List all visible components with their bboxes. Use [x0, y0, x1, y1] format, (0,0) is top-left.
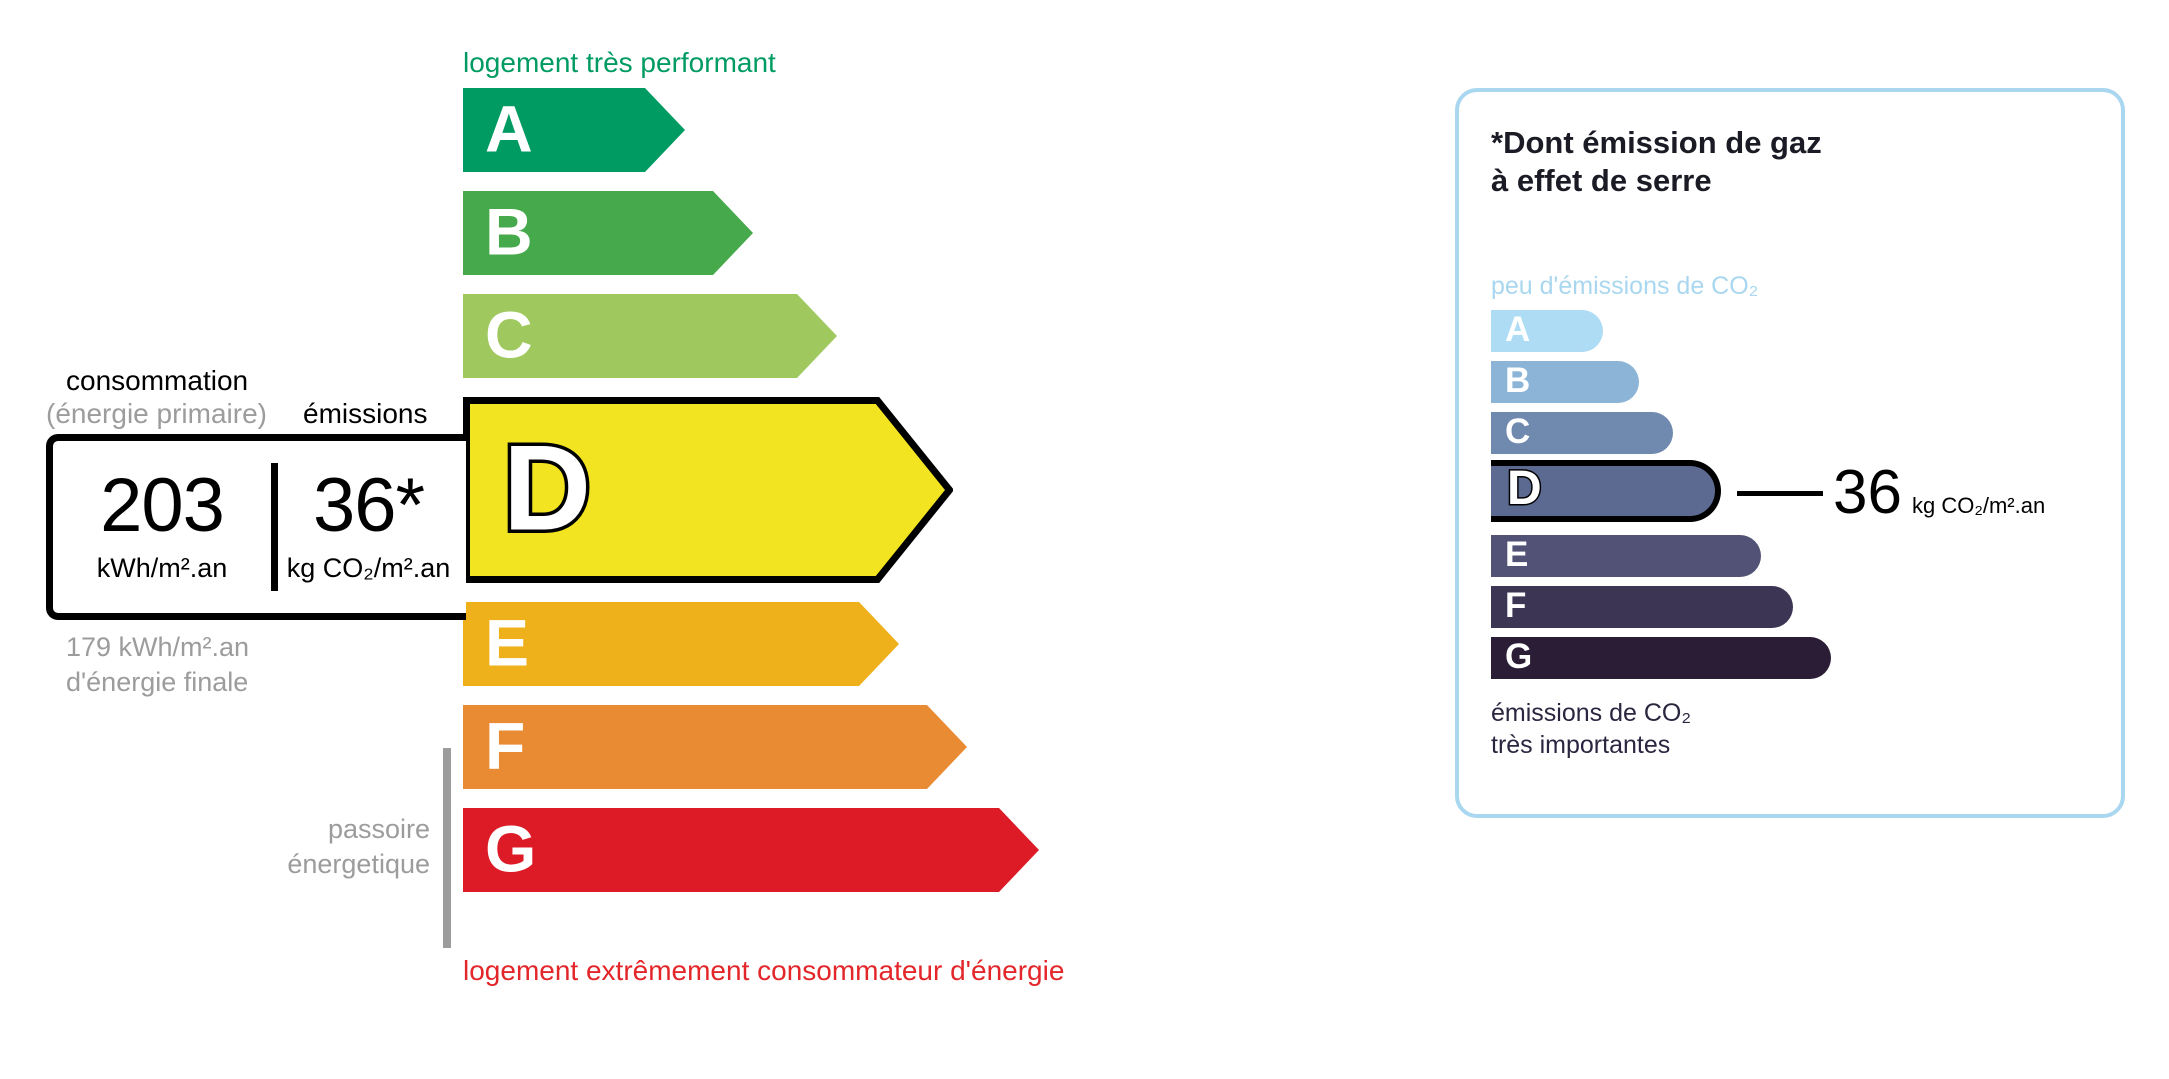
- energy-class-letter-f: F: [485, 713, 525, 779]
- co2-bar-g: G: [1491, 637, 1831, 679]
- co2-bar-f: F: [1491, 586, 1793, 628]
- energy-class-row-b: B: [463, 191, 753, 275]
- co2-class-letter-a: A: [1505, 312, 1530, 347]
- energy-arrow-d: D: [463, 397, 953, 583]
- energy-arrow-f: F: [463, 705, 967, 789]
- co2-class-row-c: C: [1491, 412, 1673, 454]
- co2-class-letter-d: D: [1507, 465, 1542, 513]
- energy-class-row-c: C: [463, 294, 837, 378]
- final-energy-line-1: 179 kWh/m².an: [66, 630, 249, 665]
- energy-class-row-e: E: [463, 602, 899, 686]
- energy-class-letter-d: D: [503, 427, 591, 549]
- energy-class-letter-b: B: [485, 199, 533, 265]
- consumption-value: 203: [100, 470, 224, 542]
- emission-value-cell: 36* kg CO₂/m².an: [271, 441, 466, 613]
- co2-value-callout: 36kg CO₂/m².an: [1833, 462, 2045, 524]
- co2-class-row-b: B: [1491, 361, 1639, 403]
- co2-class-letter-f: F: [1505, 588, 1526, 623]
- co2-bar-a: A: [1491, 310, 1603, 352]
- consumption-value-cell: 203 kWh/m².an: [53, 441, 271, 613]
- energy-class-letter-a: A: [485, 96, 533, 162]
- passoire-line-2: énergetique: [180, 847, 430, 882]
- emission-value: 36*: [313, 470, 424, 542]
- co2-top-caption: peu d'émissions de CO₂: [1491, 272, 1758, 301]
- energy-arrow-c: C: [463, 294, 837, 378]
- co2-class-letter-b: B: [1505, 363, 1530, 398]
- co2-class-row-e: E: [1491, 535, 1761, 577]
- energy-class-letter-e: E: [485, 610, 529, 676]
- co2-class-letter-e: E: [1505, 537, 1528, 572]
- energy-class-letter-c: C: [485, 302, 533, 368]
- energy-class-row-a: A: [463, 88, 685, 172]
- dpe-label: logement très performant ABCDEFG logemen…: [0, 0, 2169, 1079]
- co2-bar-e: E: [1491, 535, 1761, 577]
- co2-class-row-d: D: [1491, 460, 1721, 522]
- co2-panel-title: *Dont émission de gaz à effet de serre: [1491, 124, 1822, 200]
- emission-unit: kg CO₂/m².an: [287, 553, 451, 584]
- co2-bar-b: B: [1491, 361, 1639, 403]
- energy-class-row-d: D: [463, 397, 953, 583]
- energy-top-caption: logement très performant: [463, 47, 776, 79]
- energy-bottom-caption: logement extrêmement consommateur d'éner…: [463, 955, 1064, 987]
- co2-bar-d: D: [1491, 460, 1721, 522]
- energy-arrow-b: B: [463, 191, 753, 275]
- co2-class-row-a: A: [1491, 310, 1603, 352]
- co2-class-row-g: G: [1491, 637, 1831, 679]
- energy-arrow-e: E: [463, 602, 899, 686]
- energy-arrow-a: A: [463, 88, 685, 172]
- final-energy-line-2: d'énergie finale: [66, 665, 249, 700]
- co2-emissions-panel: *Dont émission de gaz à effet de serre p…: [1455, 88, 2125, 818]
- energy-performance-panel: logement très performant ABCDEFG logemen…: [0, 0, 1400, 1079]
- energy-class-letter-g: G: [485, 816, 536, 882]
- co2-bottom-caption: émissions de CO₂ très importantes: [1491, 698, 1691, 761]
- emissions-label: émissions: [303, 398, 427, 430]
- co2-class-letter-g: G: [1505, 639, 1532, 674]
- passoire-line-1: passoire: [180, 812, 430, 847]
- energy-class-row-g: G: [463, 808, 1039, 892]
- primary-energy-label: (énergie primaire): [46, 398, 267, 430]
- co2-value-unit: kg CO₂/m².an: [1912, 493, 2045, 519]
- energy-arrow-shape-g: [463, 808, 1039, 892]
- energy-arrow-shape-f: [463, 705, 967, 789]
- energy-arrow-g: G: [463, 808, 1039, 892]
- consumption-label: consommation: [66, 365, 248, 397]
- passoire-bracket: [443, 748, 451, 948]
- value-box: 203 kWh/m².an 36* kg CO₂/m².an: [46, 434, 466, 620]
- final-energy-note: 179 kWh/m².an d'énergie finale: [66, 630, 249, 699]
- co2-class-row-f: F: [1491, 586, 1793, 628]
- passoire-label: passoire énergetique: [180, 812, 430, 881]
- energy-class-row-f: F: [463, 705, 967, 789]
- co2-bar-c: C: [1491, 412, 1673, 454]
- co2-value-number: 36: [1833, 462, 1902, 524]
- consumption-unit: kWh/m².an: [97, 553, 228, 584]
- co2-class-letter-c: C: [1505, 414, 1530, 449]
- energy-class-arrows: ABCDEFG: [463, 88, 1263, 948]
- co2-leader-line: [1737, 491, 1823, 496]
